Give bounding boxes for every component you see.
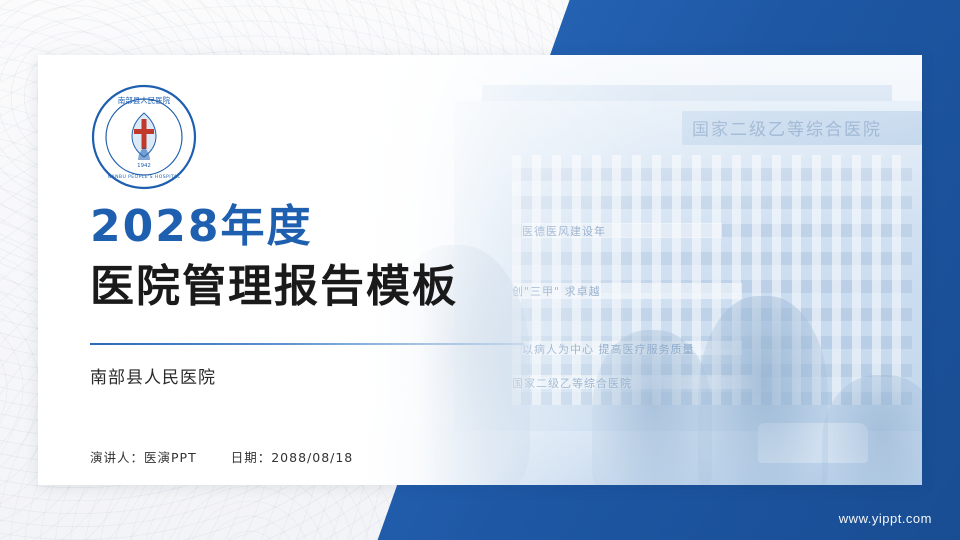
svg-text:1942: 1942 — [137, 163, 151, 169]
svg-text:南部县人民医院: 南部县人民医院 — [118, 95, 171, 105]
footer-url: www.yippt.com — [839, 511, 932, 526]
date-text: 日期：2088/08/18 — [231, 447, 354, 466]
slide-subtitle: 南部县人民医院 — [90, 363, 216, 388]
svg-text:NANBU PEOPLE'S HOSPITAL: NANBU PEOPLE'S HOSPITAL — [108, 174, 181, 180]
slide-meta: 演讲人：医演PPT 日期：2088/08/18 — [90, 447, 353, 466]
title-divider — [90, 343, 524, 345]
slide-title-main: 医院管理报告模板 — [90, 263, 458, 311]
slide-title-year: 2028年度 — [90, 203, 312, 251]
presentation-slide: 国家二级乙等综合医院 医德医风建设年 创"三甲" 求卓越 以病人为中心 提高医疗… — [0, 0, 960, 540]
title-card: 国家二级乙等综合医院 医德医风建设年 创"三甲" 求卓越 以病人为中心 提高医疗… — [38, 55, 922, 485]
hospital-emblem-logo: 南部县人民医院 NANBU PEOPLE'S HOSPITAL 1942 — [90, 83, 198, 191]
presenter-text: 演讲人：医演PPT — [90, 447, 197, 466]
